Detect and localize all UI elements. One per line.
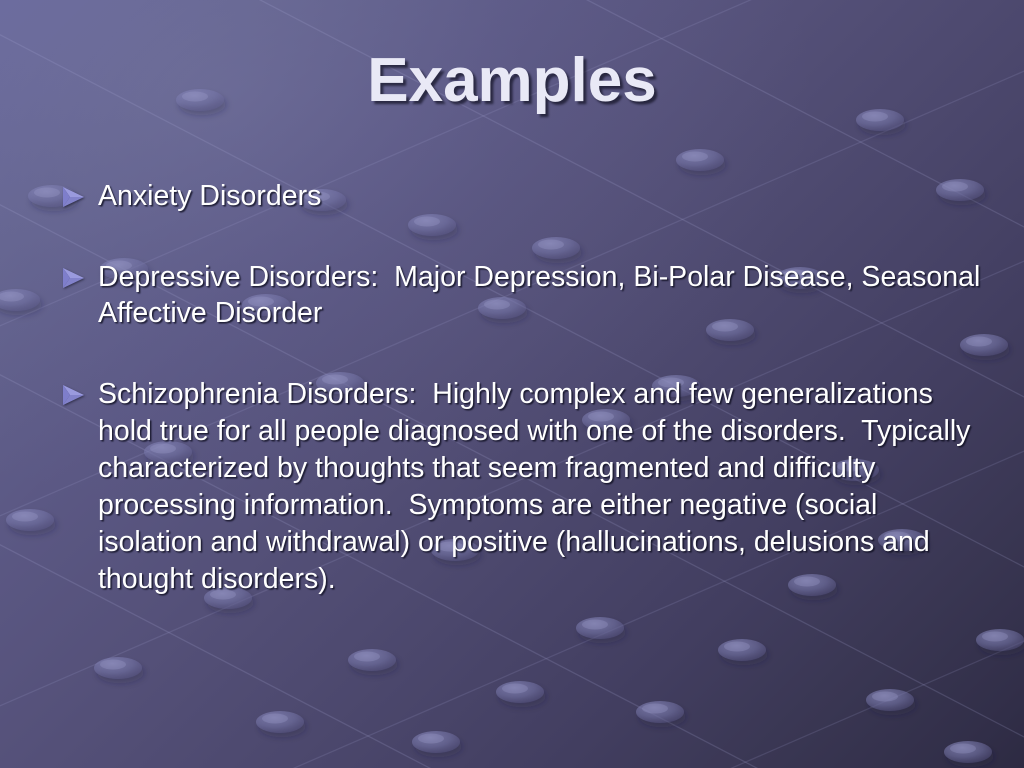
slide-body-content: Anxiety Disorders Depressive Disorders: … [56,178,986,598]
bullet-text: Anxiety Disorders [98,178,986,214]
bullet-item-anxiety: Anxiety Disorders [56,178,986,214]
arrow-bullet-icon [56,179,98,215]
arrow-bullet-icon [56,260,98,296]
bullet-text: Schizophrenia Disorders: Highly complex … [98,376,986,598]
bullet-item-depressive: Depressive Disorders: Major Depression, … [56,259,986,331]
slide-title: Examples [0,48,1024,113]
bullet-item-schizophrenia: Schizophrenia Disorders: Highly complex … [56,376,986,598]
presentation-slide: Examples Anxiety Disorders Depressive [0,0,1024,768]
bullet-text: Depressive Disorders: Major Depression, … [98,259,986,331]
arrow-bullet-icon [56,377,98,413]
